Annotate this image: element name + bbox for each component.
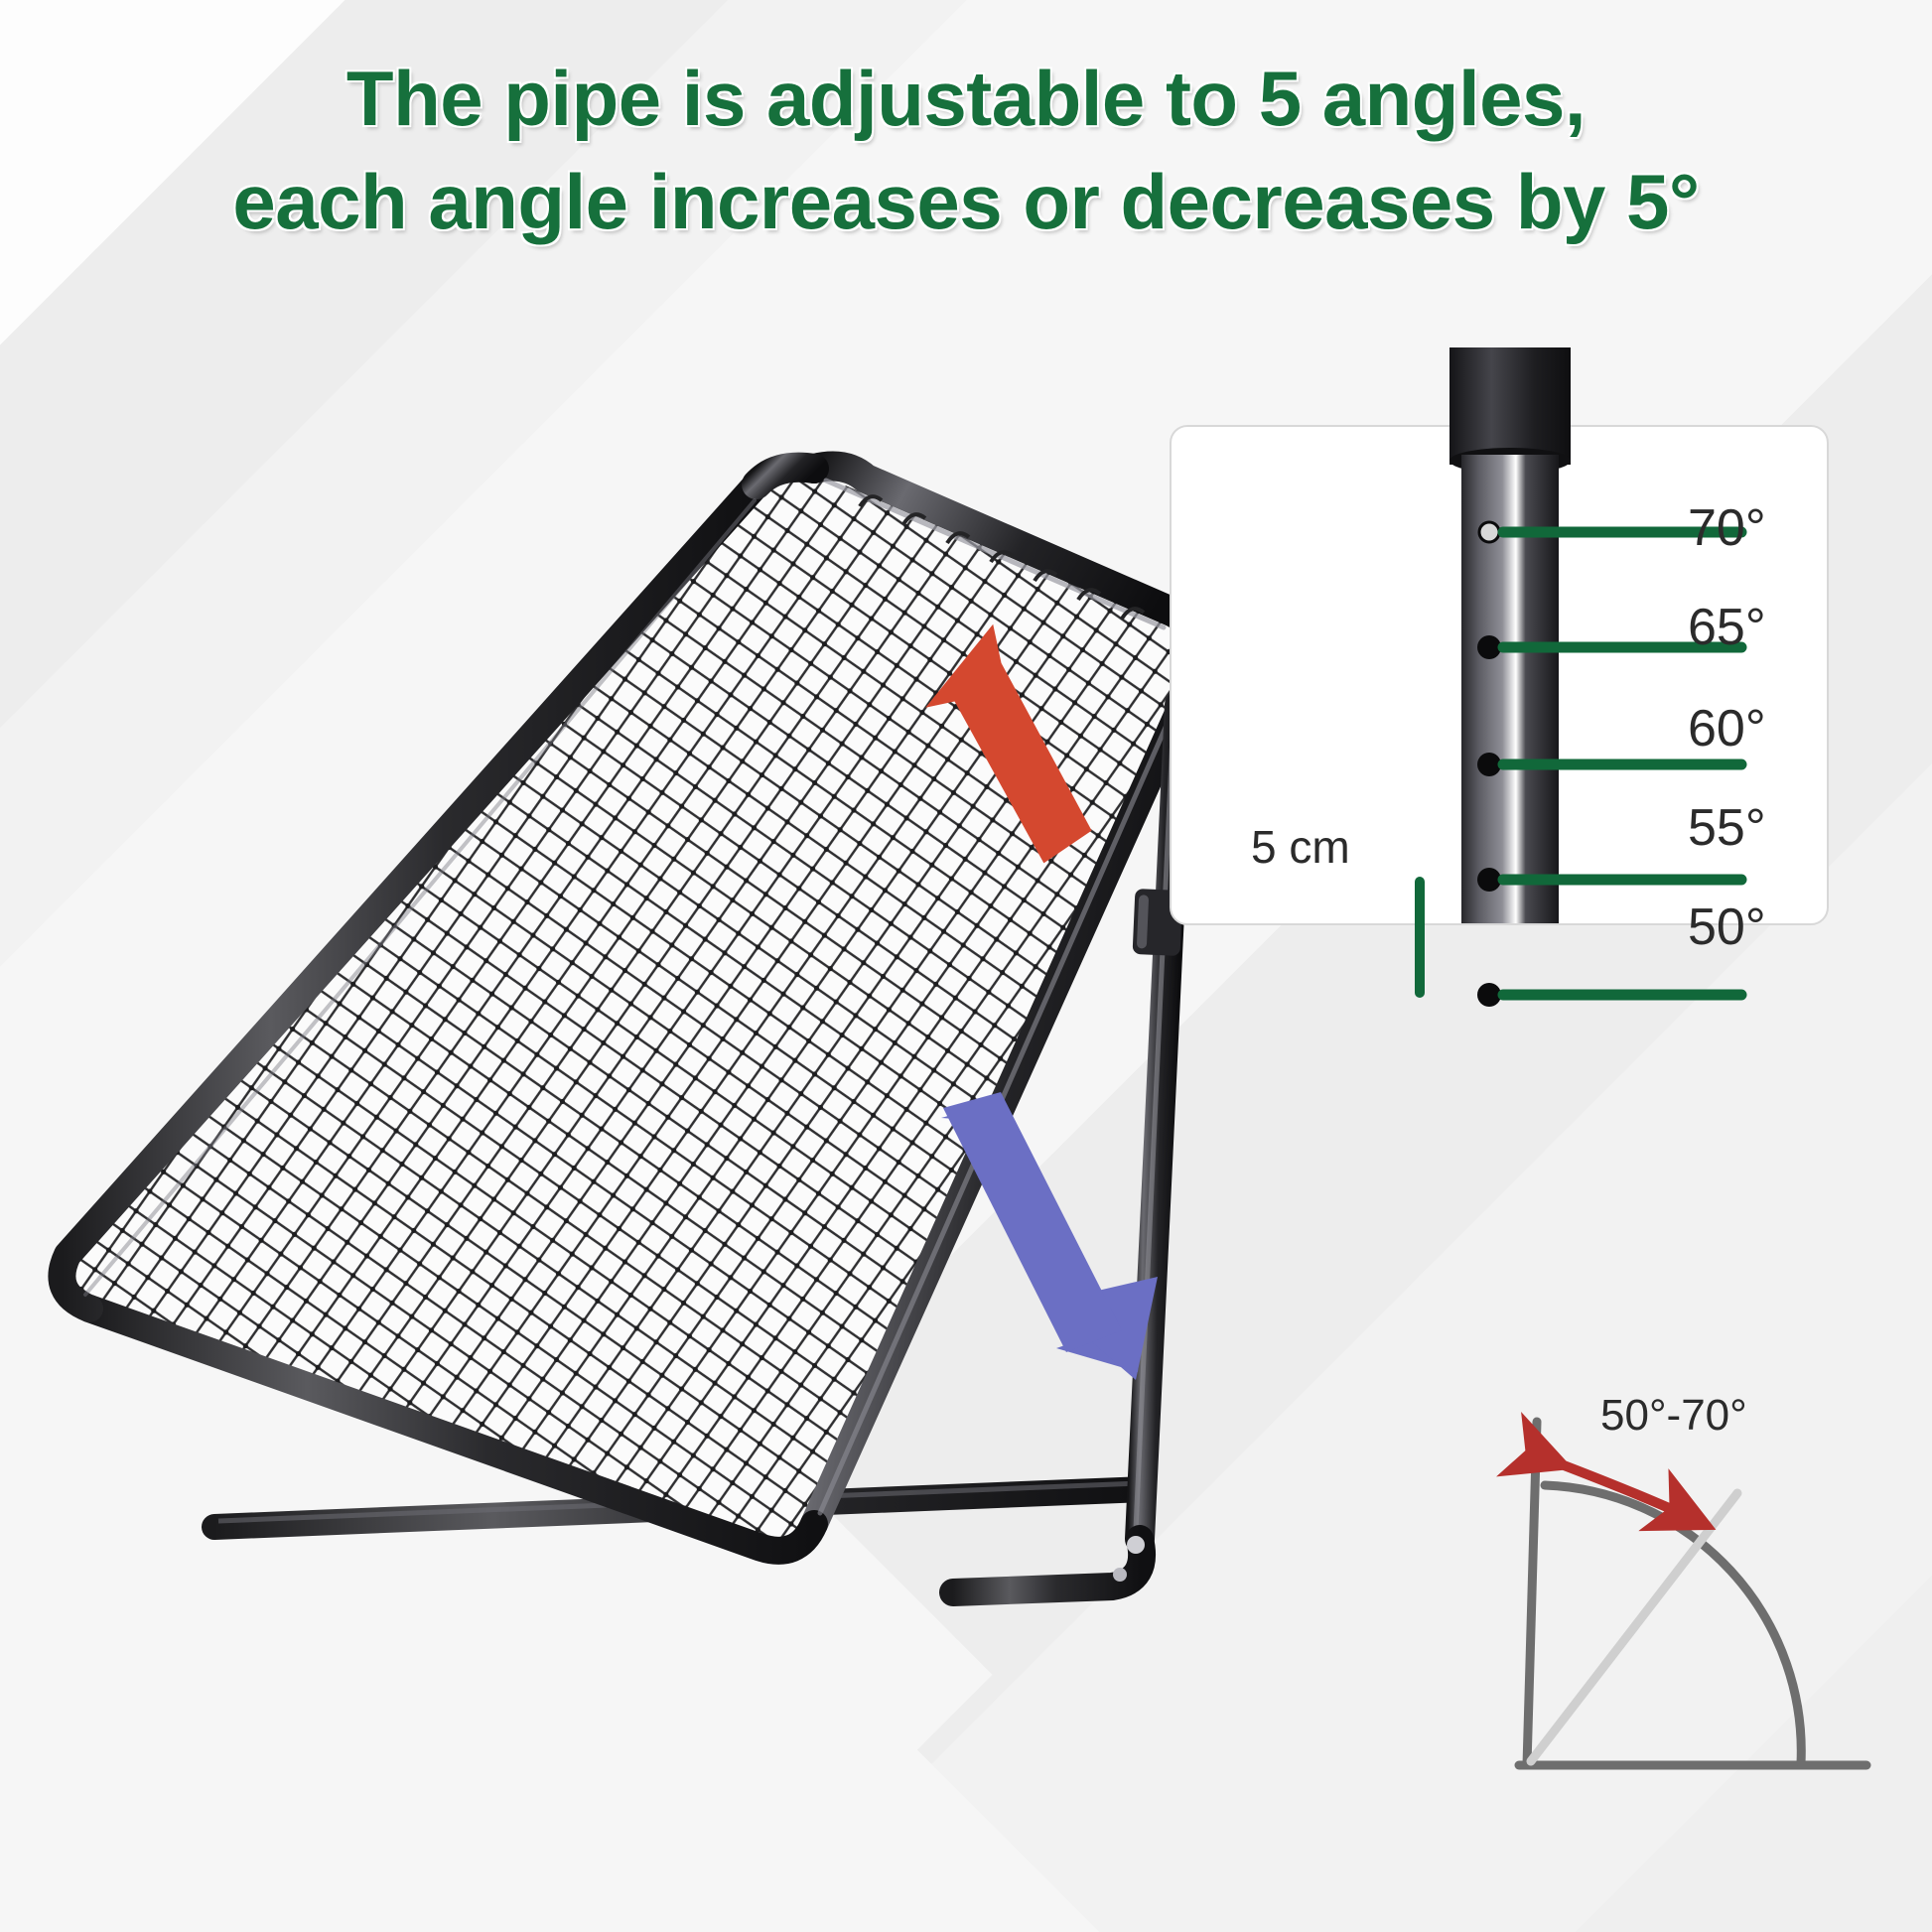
pipe-outer-sleeve: [1449, 347, 1571, 465]
diagram-arc: [1545, 1485, 1801, 1763]
diagram-tilted-line: [1531, 1493, 1737, 1761]
angle-range-label: 50°-70°: [1600, 1394, 1747, 1438]
pipe-hole-55: [1477, 868, 1501, 892]
pipe-angle-label-70: 70°: [1688, 502, 1766, 554]
leg-foot-hinge: [953, 1536, 1145, 1592]
pipe-adjustment-holes-inset: 70° 65° 60° 55° 50° 5 cm: [1170, 425, 1829, 925]
arrow-down-shaft: [943, 1092, 1122, 1352]
pipe-angle-label-65: 65°: [1688, 602, 1766, 653]
pipe-hole-65: [1477, 635, 1501, 659]
pipe-hole-50: [1477, 983, 1501, 1007]
diagram-vertical-line: [1527, 1422, 1537, 1765]
hole-spacing-label: 5 cm: [1251, 824, 1350, 870]
pipe-angle-label-60: 60°: [1688, 703, 1766, 755]
pipe-hole-70: [1479, 522, 1499, 542]
adjust-down-arrow: [923, 1082, 1181, 1390]
pipe-inner-tube: [1461, 455, 1559, 923]
pipe-angle-label-50: 50°: [1688, 901, 1766, 953]
pipe-hole-60: [1477, 753, 1501, 776]
angle-range-diagram: 50°-70°: [1442, 1372, 1932, 1799]
pipe-angle-label-55: 55°: [1688, 802, 1766, 854]
adjust-up-arrow: [923, 616, 1162, 903]
arrow-up-shape: [923, 616, 1096, 881]
product-photo: [20, 357, 1191, 1608]
